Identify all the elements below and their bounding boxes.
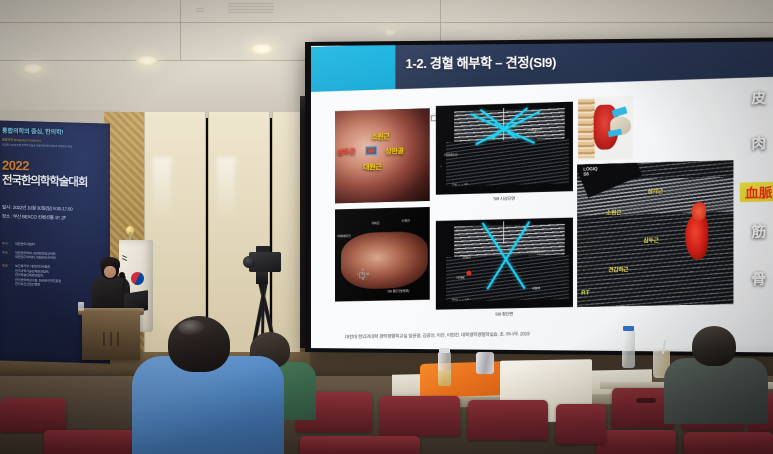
spine-illustration [578, 99, 595, 159]
organizer-row: 주최 대한한의사협회 [2, 242, 104, 249]
doppler-vessel-signal [691, 202, 706, 221]
probe-diagram: ▱ [440, 164, 442, 168]
hanzi-sinew: 筋 [740, 221, 773, 242]
orientation-indicator-2: PL S MA [357, 269, 369, 281]
label-so-won-geun: 소원근 [371, 132, 389, 143]
hanzi-flesh: 肉 [740, 132, 773, 154]
slide-body: 소원근 삼두근 SI9 상완골 대원근 SPI 극하근 소원근 어깨세모근 [311, 77, 773, 353]
panel-reflection [217, 157, 235, 222]
bottle-cap [623, 326, 634, 331]
water-cup [78, 302, 84, 311]
us-tissue-label: 어깨세모근 [528, 127, 542, 132]
auditorium-seat [0, 398, 66, 432]
ceiling-downlight [22, 64, 44, 74]
ultrasound-main-panel [577, 160, 733, 307]
banner-tagline: 통합의학의 중심, 한의학! [2, 126, 104, 138]
label-sowongeun: 소원근 [606, 208, 621, 217]
panel-reflection [153, 157, 171, 222]
organizer-key: 후원 [2, 263, 12, 286]
anatomy-illustration-panel [577, 96, 633, 161]
label-gyeongabhageun: 견갑하근 [608, 265, 628, 274]
organizer-row: 후원 보건복지부, 대한한의사협회, 한국과학기술단체총연합회, 한국학술단체총… [2, 263, 104, 289]
podium-groove [117, 332, 119, 346]
ceiling-downlight [136, 56, 158, 66]
dissection-photo-panel: 소원근 삼두근 SI9 상완골 대원근 [335, 108, 430, 203]
tripod-head [256, 270, 268, 284]
label-geuk-ha-geun: 극하근 [371, 220, 379, 225]
label-samgakgeun: 삼각근 [648, 187, 663, 196]
ultrasound-device-label: LOGIQ S8 [583, 166, 597, 177]
banner-title: 전국한의학학술대회 [2, 172, 104, 191]
ultrasound-transverse-panel: 큰원근 어깨세모근 어깨뼈 위팔뼈 Med ←→ Lat [436, 218, 573, 310]
audience-grey-suit-body [664, 358, 768, 424]
slide-content: 소원근 삼두근 SI9 상완골 대원근 SPI 극하근 소원근 어깨세모근 [311, 77, 773, 353]
label-so-won-geun-2: 소원근 [401, 218, 409, 223]
auditorium-seat [468, 400, 548, 440]
label-samdugeun: 삼두근 [643, 236, 658, 245]
doppler-vessel-signal [685, 214, 708, 260]
hanzi-bone: 骨 [740, 268, 773, 289]
ceiling-vent [228, 3, 274, 13]
podium-groove [103, 332, 105, 346]
us-tissue-label: 위팔뼈 [532, 285, 540, 290]
audience-hair-highlight [178, 320, 206, 336]
organizer-row: 주관 대한한의학회, 대한한의영상학회 대한침구의학회, 대한約도의학회 [2, 250, 104, 262]
projection-screen-frame: 1-2. 경혈 해부학 – 견정(SI9) 소원근 삼두근 SI9 상완골 대원… [305, 37, 773, 356]
hanzi-blood-vessel: 血脈 [740, 182, 773, 203]
podium-groove [110, 332, 112, 346]
auditorium-seat [380, 396, 460, 436]
banner-venue: 장소 : 부산 BEXCO 컨벤션홀 1F, 2F [2, 214, 104, 223]
audience-grey-suit-head [692, 326, 736, 366]
us-orientation-scale: Sup ←→ Inf [452, 182, 468, 186]
banner-organizers: 주최 대한한의사협회 주관 대한한의학회, 대한한의영상학회 대한침구의학회, … [2, 242, 104, 290]
auditorium-seat [596, 430, 676, 454]
auditorium-seat [556, 404, 606, 444]
ceiling-vent [196, 8, 204, 13]
auditorium-seat [300, 436, 420, 454]
ceiling-seam [180, 0, 181, 60]
ceiling-seam [0, 22, 773, 23]
camera-lens-icon [243, 256, 255, 268]
microphone-icon [119, 272, 125, 278]
organizer-value: 보건복지부, 대한한의사협회, 한국과학기술단체총연합회, 한국학술단체총연합회… [15, 264, 62, 289]
speaker-face [104, 266, 116, 278]
organizer-value: 대한한의학회, 대한한의영상학회 대한침구의학회, 대한約도의학회 [15, 251, 56, 261]
us-orientation-scale: Med ←→ Lat [452, 297, 469, 301]
us-tissue-label: 어깨뼈 [456, 275, 464, 280]
ceiling-downlight [250, 44, 274, 55]
shoulder-photo-panel: 극하근 소원근 어깨세모근 PL S MA SI9 횡단면(해부) [335, 207, 430, 302]
label-eokkae-semogeun: 어깨세모근 [337, 233, 351, 238]
label-sang-wan-gol: 상완골 [385, 146, 403, 157]
slide-title: 1-2. 경혈 해부학 – 견정(SI9) [405, 52, 556, 72]
probe-position-transverse [608, 129, 622, 138]
us-midline [503, 221, 504, 243]
tissue-layer-hanzi-column: 皮 肉 血脈 筋 骨 [738, 87, 773, 306]
ultrasound-sagittal-panel: 어깨세모근 어깨세모근 Sup ←→ Inf ▱ [436, 102, 573, 195]
label-dae-won-geun: 대원근 [363, 162, 381, 173]
label-sam-du-geun: 삼두근 [337, 147, 355, 158]
conference-hall-photo: 통합의학의 중심, 한의학! 통합의학 (Integrated medicine… [0, 0, 773, 454]
silver-tumbler [476, 352, 494, 374]
organizer-value: 대한한의사협회 [15, 242, 34, 247]
organizer-key: 주관 [2, 250, 12, 260]
banner-date: 일시 : 2022년 10월 30일(일) 9:30-17:00 [2, 205, 104, 214]
auditorium-seat [684, 432, 773, 454]
us-tissue-label: 어깨세모근 [444, 152, 458, 157]
projection-screen: 1-2. 경혈 해부학 – 견정(SI9) 소원근 삼두근 SI9 상완골 대원… [311, 42, 773, 353]
seat-handle [636, 398, 656, 403]
hanzi-skin: 皮 [740, 87, 773, 109]
bottle-cap [439, 348, 450, 353]
ceiling-downlight [384, 30, 396, 36]
us-tissue-label: 어깨세모근 [530, 249, 544, 254]
us-tissue-label: 큰원근 [462, 254, 470, 259]
side-marker-rt: RT [581, 290, 589, 296]
organizer-key: 주최 [2, 242, 12, 247]
bottle-liquid [438, 370, 451, 386]
acupoint-marker-si9: SI9 [365, 146, 377, 155]
us-midline [503, 108, 504, 140]
photo-panel-2-caption: SI9 횡단면(해부) [387, 288, 409, 293]
water-bottle [622, 330, 635, 368]
us-deep-tissue [446, 138, 569, 186]
